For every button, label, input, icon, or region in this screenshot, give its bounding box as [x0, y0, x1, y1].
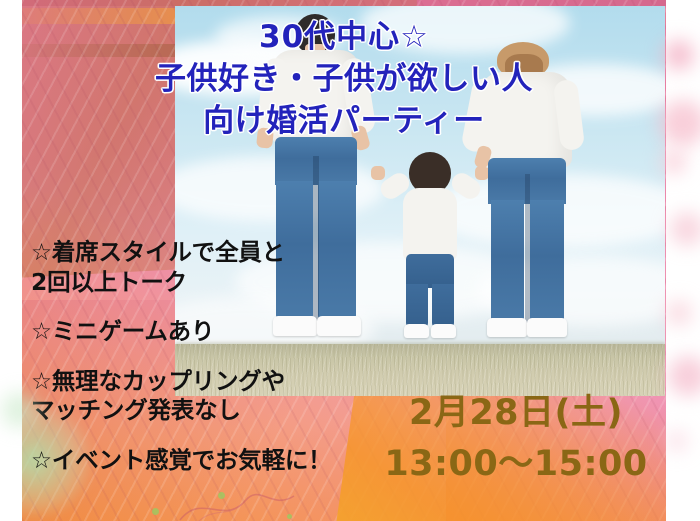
list-item-line-1: ☆無理なカップリングや — [31, 367, 361, 397]
list-item-line-1: ☆着席スタイルで全員と — [31, 238, 361, 268]
list-item-line-2: マッチング発表なし — [31, 396, 361, 426]
list-item: ☆ミニゲームあり — [31, 317, 361, 347]
event-date: 2月28日(土) — [366, 393, 666, 434]
green-dot-decoration — [152, 508, 159, 515]
event-schedule: 2月28日(土) 13:00〜15:00 — [366, 393, 666, 484]
list-item: ☆無理なカップリングや マッチング発表なし — [31, 367, 361, 426]
list-item-line-2: 2回以上トーク — [31, 268, 361, 298]
headline-line-3: 向け婚活パーティー — [22, 100, 666, 142]
headline: 30代中心☆ 子供好き・子供が欲しい人 向け婚活パーティー — [22, 16, 666, 142]
list-item-line-1: ☆イベント感覚でお気軽に！ — [31, 446, 361, 476]
feature-list: ☆着席スタイルで全員と 2回以上トーク ☆ミニゲームあり ☆無理なカップリングや… — [31, 238, 361, 496]
list-item: ☆イベント感覚でお気軽に！ — [31, 446, 361, 476]
left-white-margin — [0, 0, 22, 521]
headline-line-2: 子供好き・子供が欲しい人 — [22, 58, 666, 100]
green-dot-decoration — [287, 514, 292, 519]
list-item-line-1: ☆ミニゲームあり — [31, 317, 361, 347]
event-time: 13:00〜15:00 — [366, 444, 666, 485]
headline-line-1: 30代中心☆ — [22, 16, 666, 58]
event-flyer: 30代中心☆ 子供好き・子供が欲しい人 向け婚活パーティー ☆着席スタイルで全員… — [0, 0, 700, 521]
right-white-margin — [666, 0, 700, 521]
list-item: ☆着席スタイルで全員と 2回以上トーク — [31, 238, 361, 297]
